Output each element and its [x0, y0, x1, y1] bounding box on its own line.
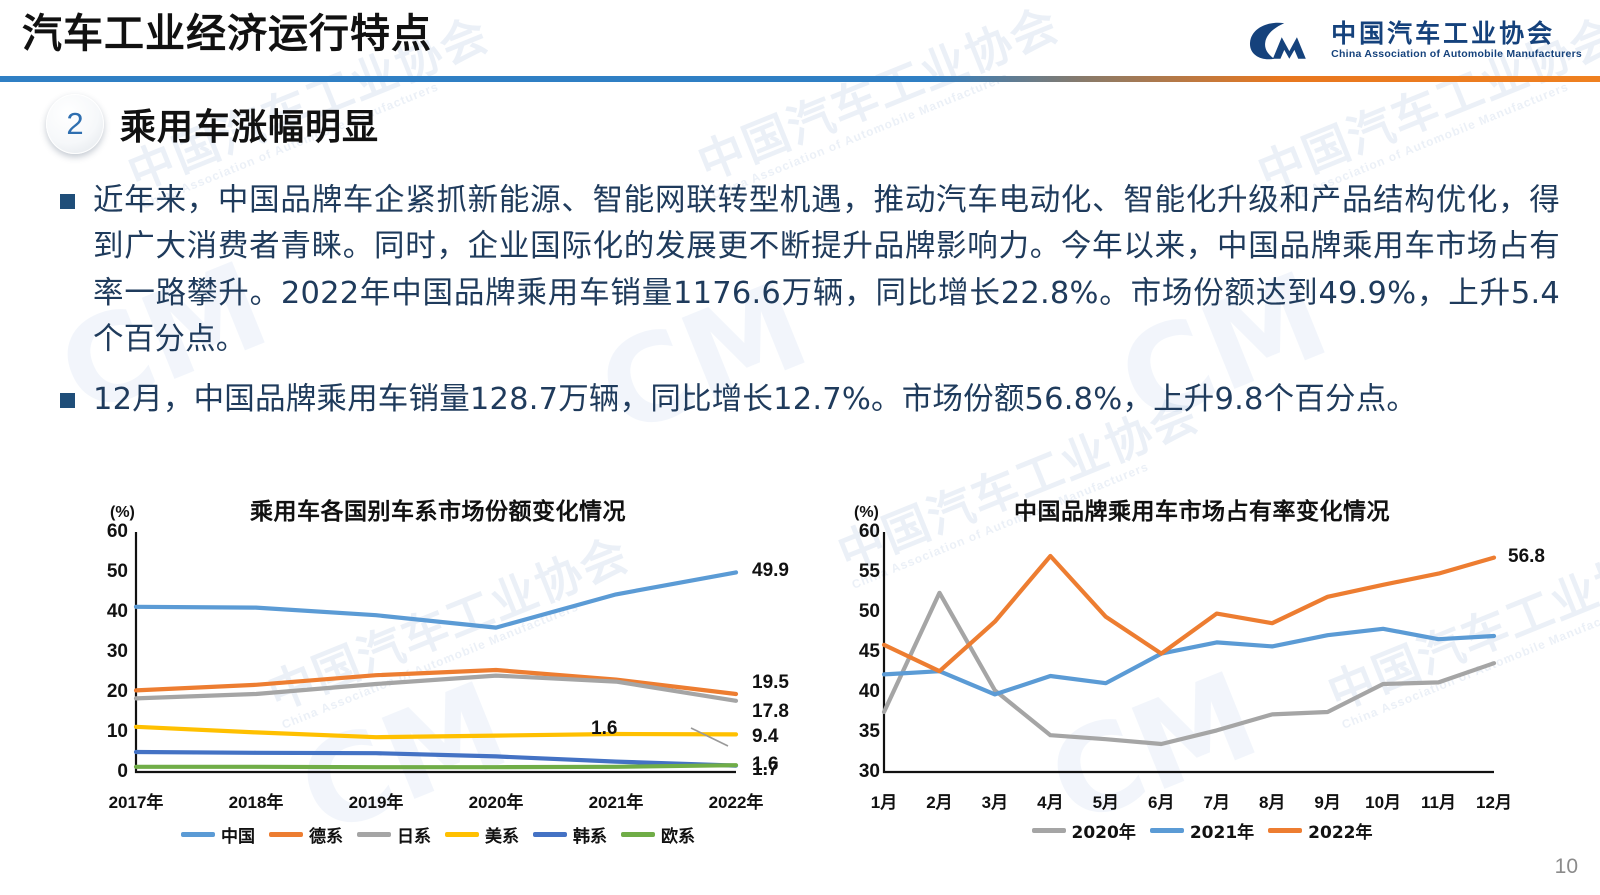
legend-swatch-icon	[269, 832, 303, 837]
bullet-text: 近年来，中国品牌车企紧抓新能源、智能网联转型机遇，推动汽车电动化、智能化升级和产…	[93, 178, 1560, 363]
y-axis-tick: 60	[88, 521, 128, 543]
legend-item[interactable]: 中国	[181, 822, 255, 847]
header-divider	[0, 76, 1600, 82]
slide: 中国汽车工业协会China Association of Automobile …	[0, 0, 1600, 895]
data-point-label: 1.7	[752, 759, 778, 781]
legend-label: 美系	[485, 822, 519, 847]
legend-swatch-icon	[1268, 828, 1302, 833]
plot-area: 303540455055601月2月3月4月5月6月7月8月9月10月11月12…	[884, 532, 1494, 772]
chart-series-line	[136, 572, 736, 627]
chart-series-line	[136, 670, 736, 694]
data-point-label: 1.6	[591, 718, 617, 740]
charts-area: 乘用车各国别车系市场份额变化情况 (%) 01020304050602017年2…	[0, 470, 1600, 870]
legend-item[interactable]: 欧系	[621, 822, 695, 847]
x-axis-tick: 2017年	[96, 788, 176, 813]
chart-legend: 中国德系日系美系韩系欧系	[78, 822, 798, 847]
page-number: 10	[1555, 855, 1578, 879]
data-point-label: 9.4	[752, 726, 778, 748]
slide-header: 汽车工业经济运行特点 中国汽车工业协会 China Association of…	[0, 0, 1600, 86]
legend-label: 中国	[221, 822, 255, 847]
legend-item[interactable]: 2021年	[1150, 818, 1254, 843]
legend-label: 德系	[309, 822, 343, 847]
y-axis-tick: 55	[840, 561, 880, 583]
x-axis-tick: 12月	[1454, 788, 1534, 813]
legend-item[interactable]: 2020年	[1032, 818, 1136, 843]
y-axis-tick: 20	[88, 681, 128, 703]
chart-title: 中国品牌乘用车市场占有率变化情况	[832, 492, 1572, 526]
y-axis-tick: 45	[840, 641, 880, 663]
section-title: 乘用车涨幅明显	[120, 98, 379, 150]
legend-swatch-icon	[1032, 828, 1066, 833]
x-axis-tick: 2022年	[696, 788, 776, 813]
legend-item[interactable]: 韩系	[533, 822, 607, 847]
legend-label: 2020年	[1072, 818, 1136, 843]
chart-series-line	[136, 752, 736, 766]
y-axis-tick: 40	[88, 601, 128, 623]
chart-series-line	[136, 765, 736, 767]
chart-svg	[136, 532, 826, 780]
chart-y-unit: (%)	[854, 504, 879, 522]
y-axis-tick: 0	[88, 761, 128, 783]
brand-logo: 中国汽车工业协会 China Association of Automobile…	[1245, 12, 1582, 70]
page-title: 汽车工业经济运行特点	[22, 10, 432, 58]
legend-swatch-icon	[445, 832, 479, 837]
section-heading: 2 乘用车涨幅明显	[46, 94, 379, 154]
y-axis-tick: 10	[88, 721, 128, 743]
y-axis-tick: 50	[88, 561, 128, 583]
data-point-label: 17.8	[752, 701, 789, 723]
x-axis-tick: 2021年	[576, 788, 656, 813]
logo-title-en: China Association of Automobile Manufact…	[1331, 48, 1582, 62]
bullet-text: 12月，中国品牌乘用车销量128.7万辆，同比增长12.7%。市场份额56.8%…	[93, 377, 1417, 423]
legend-label: 2022年	[1308, 818, 1372, 843]
x-axis-tick: 2019年	[336, 788, 416, 813]
logo-title-cn: 中国汽车工业协会	[1331, 20, 1582, 48]
cam-logo-icon	[1245, 18, 1321, 64]
legend-label: 欧系	[661, 822, 695, 847]
list-item: 近年来，中国品牌车企紧抓新能源、智能网联转型机遇，推动汽车电动化、智能化升级和产…	[60, 178, 1560, 363]
y-axis-tick: 35	[840, 721, 880, 743]
y-axis-tick: 30	[840, 761, 880, 783]
legend-swatch-icon	[533, 832, 567, 837]
data-point-label: 56.8	[1508, 546, 1545, 568]
label-leader-line	[691, 728, 728, 746]
legend-swatch-icon	[1150, 828, 1184, 833]
legend-item[interactable]: 德系	[269, 822, 343, 847]
chart-series-line	[884, 593, 1494, 744]
list-item: 12月，中国品牌乘用车销量128.7万辆，同比增长12.7%。市场份额56.8%…	[60, 377, 1560, 423]
legend-swatch-icon	[621, 832, 655, 837]
legend-swatch-icon	[181, 832, 215, 837]
chart-title: 乘用车各国别车系市场份额变化情况	[78, 492, 798, 526]
chart-china-brand-market-share: 中国品牌乘用车市场占有率变化情况 (%) 303540455055601月2月3…	[832, 470, 1572, 870]
legend-item[interactable]: 日系	[357, 822, 431, 847]
y-axis-tick: 50	[840, 601, 880, 623]
legend-item[interactable]: 美系	[445, 822, 519, 847]
legend-swatch-icon	[357, 832, 391, 837]
chart-y-unit: (%)	[110, 504, 135, 522]
bullet-list: 近年来，中国品牌车企紧抓新能源、智能网联转型机遇，推动汽车电动化、智能化升级和产…	[60, 178, 1560, 438]
y-axis-tick: 40	[840, 681, 880, 703]
y-axis-tick: 60	[840, 521, 880, 543]
legend-label: 2021年	[1190, 818, 1254, 843]
x-axis-tick: 2018年	[216, 788, 296, 813]
bullet-square-icon	[60, 194, 75, 209]
plot-area: 01020304050602017年2018年2019年2020年2021年20…	[136, 532, 736, 772]
chart-legend: 2020年2021年2022年	[832, 818, 1572, 843]
y-axis-tick: 30	[88, 641, 128, 663]
data-point-label: 19.5	[752, 672, 789, 694]
x-axis-tick: 2020年	[456, 788, 536, 813]
legend-label: 日系	[397, 822, 431, 847]
chart-svg	[884, 532, 1584, 780]
chart-passenger-car-brand-origin-share: 乘用车各国别车系市场份额变化情况 (%) 01020304050602017年2…	[78, 470, 798, 870]
legend-label: 韩系	[573, 822, 607, 847]
bullet-square-icon	[60, 393, 75, 408]
data-point-label: 49.9	[752, 560, 789, 582]
section-number-badge: 2	[46, 94, 104, 154]
chart-series-line	[136, 727, 736, 737]
legend-item[interactable]: 2022年	[1268, 818, 1372, 843]
